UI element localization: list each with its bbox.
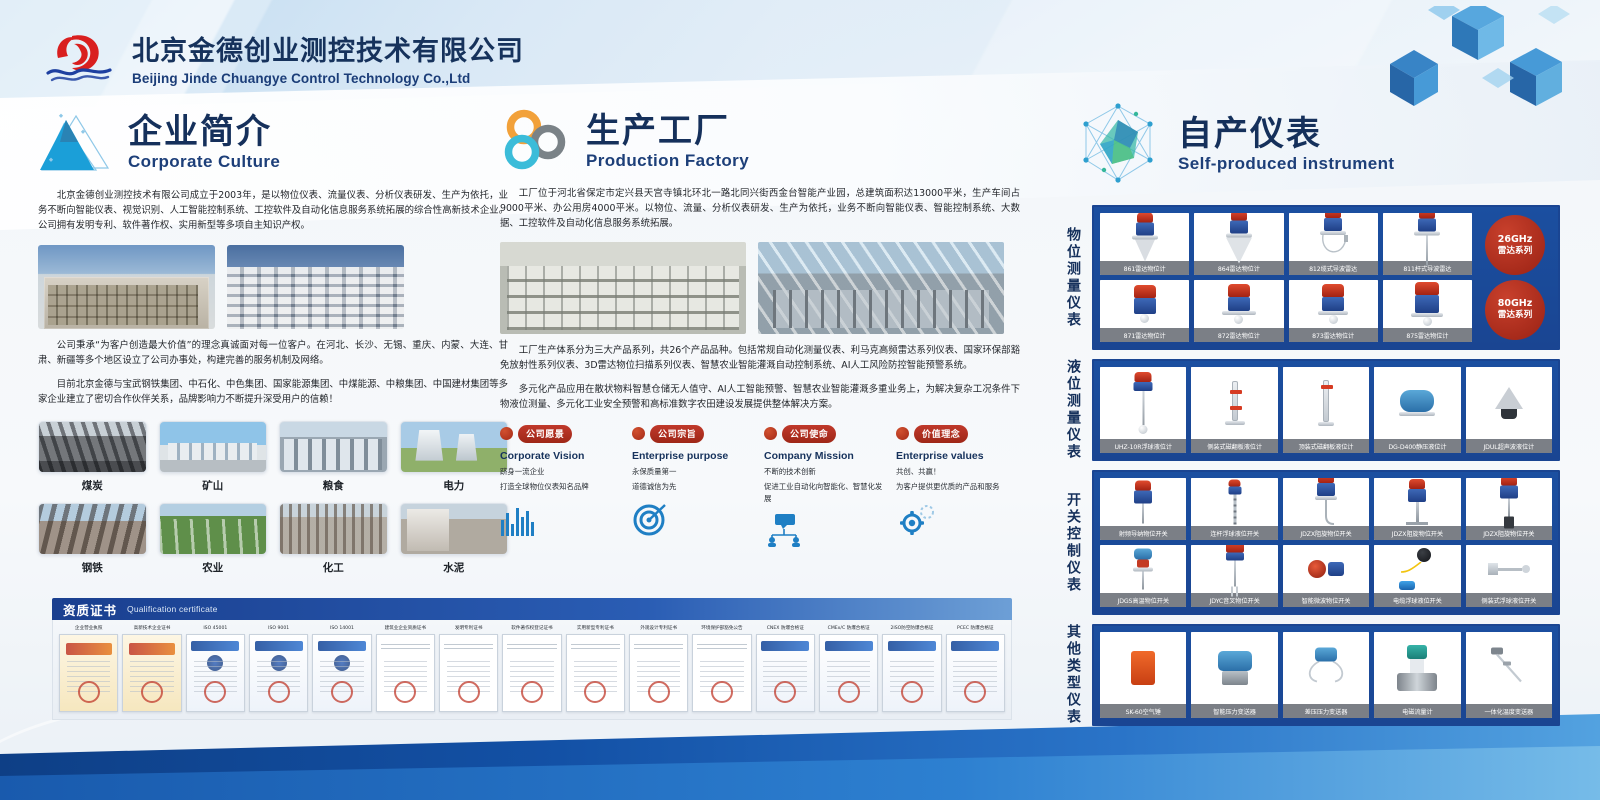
- certificate-caption: ISO 14001: [312, 624, 371, 634]
- product-caption: UHZ-10R浮球液位计: [1100, 439, 1186, 453]
- certificate-thumbnail: [756, 634, 815, 712]
- industry-label: 矿山: [159, 478, 268, 493]
- product-card[interactable]: JDYC音叉物位开关: [1191, 545, 1277, 607]
- certificates-title-cn: 资质证书: [63, 600, 117, 619]
- certificate-thumbnail: [122, 634, 181, 712]
- product-card[interactable]: 侧装式磁翻板液位计: [1191, 367, 1277, 453]
- culture-title-en: Corporate Culture: [128, 152, 280, 172]
- value-line-2: 道德诚信为先: [632, 481, 756, 492]
- bar-chart-icon: [500, 502, 624, 536]
- value-pill-purpose: 公司宗旨: [650, 425, 704, 443]
- rod-float-level-switch-icon: [1191, 478, 1277, 526]
- certificate-caption: ISO 9001: [249, 624, 308, 634]
- product-caption: JDGS高温物位开关: [1100, 593, 1186, 607]
- gear-icon: [896, 502, 1020, 536]
- industry-label: 化工: [279, 560, 388, 575]
- factory-paragraph-2: 工厂生产体系分为三大产品系列，共26个产品品种。包括常规自动化测量仪表、利马克高…: [500, 343, 1020, 373]
- industry-cell-coal[interactable]: 煤炭: [38, 421, 147, 493]
- warehouse-photo: [500, 242, 746, 334]
- product-caption: 861雷达物位计: [1100, 261, 1189, 275]
- bullet-dot-icon: [500, 427, 513, 440]
- certificate-thumbnail: [566, 634, 625, 712]
- value-pill-vision: 公司愿景: [518, 425, 572, 443]
- product-caption: JDUL超声波液位计: [1466, 439, 1552, 453]
- grain-silo-photo: [279, 421, 388, 473]
- product-card[interactable]: 873雷达物位计: [1289, 280, 1378, 342]
- electromagnetic-flowmeter-icon: [1374, 632, 1460, 704]
- bullet-dot-icon: [632, 427, 645, 440]
- certificate-item[interactable]: CMEx/C 防爆合格证: [819, 624, 878, 712]
- self-produced-instrument-section: 自产仪表 Self-produced instrument 物位测量仪表 861…: [1060, 100, 1560, 735]
- certificate-thumbnail: [439, 634, 498, 712]
- product-caption: 电缆浮球液位开关: [1374, 593, 1460, 607]
- value-line-2: 打造全球物位仪表知名品牌: [500, 481, 624, 492]
- product-caption: 873雷达物位计: [1289, 328, 1378, 342]
- radar-level-meter-871-icon: [1100, 280, 1189, 328]
- industry-cell-power[interactable]: 电力: [400, 421, 509, 493]
- series-badges: 26GHz 雷达系列 80GHz 雷达系列: [1478, 213, 1552, 342]
- factory-paragraph-3: 多元化产品应用在散状物料智慧仓储无人值守、AI人工智能预警、智慧农业智能灌溉多重…: [500, 382, 1020, 412]
- product-card[interactable]: JDZX阻旋物位开关: [1466, 478, 1552, 540]
- product-card[interactable]: 差压压力变送器: [1283, 632, 1369, 718]
- certificate-item[interactable]: ISO 14001: [312, 624, 371, 712]
- product-caption: 射频导纳物位开关: [1100, 526, 1186, 540]
- certificate-item[interactable]: 外观设计专利证书: [629, 624, 688, 712]
- product-caption: 电磁流量计: [1374, 704, 1460, 718]
- culture-paragraph-2: 公司秉承“为客户创造最大价值”的理念真诚面对每一位客户。在河北、长沙、无锡、重庆…: [38, 338, 508, 368]
- target-icon: [632, 502, 756, 536]
- company-name-cn: 北京金德创业测控技术有限公司: [132, 29, 524, 68]
- production-factory-section: 生产工厂 Production Factory 工厂位于河北省保定市定兴县天宫寺…: [500, 108, 1020, 547]
- value-en-vision: Corporate Vision: [500, 450, 624, 462]
- workshop-photo: [758, 242, 1004, 334]
- certificate-caption: 外观设计专利证书: [629, 624, 688, 634]
- category-panel: SK-60空气锤 智能压力变送器: [1092, 624, 1560, 726]
- industry-label: 钢铁: [38, 560, 147, 575]
- certificate-caption: 建筑业企业资质证书: [376, 624, 435, 634]
- value-en-values: Enterprise values: [896, 450, 1020, 462]
- rod-guided-radar-811-icon: [1383, 213, 1472, 261]
- product-card[interactable]: 智能微波物位开关: [1283, 545, 1369, 607]
- product-card[interactable]: 872雷达物位计: [1194, 280, 1283, 342]
- top-magnetic-flap-level-meter-icon: [1283, 367, 1369, 439]
- badge-line-2: 雷达系列: [1498, 246, 1532, 257]
- product-caption: 差压压力变送器: [1283, 704, 1369, 718]
- side-float-level-switch-icon: [1466, 545, 1552, 593]
- product-card[interactable]: DG-D400静压液位计: [1374, 367, 1460, 453]
- rotary-paddle-switch-jdzx-b-icon: [1374, 478, 1460, 526]
- product-card[interactable]: 顶装式磁翻板液位计: [1283, 367, 1369, 453]
- certificate-thumbnail: [946, 634, 1005, 712]
- factory-paragraph-1: 工厂位于河北省保定市定兴县天宫寺镇北环北一路北同兴街西金台智能产业园，总建筑面积…: [500, 186, 1020, 232]
- culture-title-cn: 企业简介: [128, 115, 280, 151]
- chemical-plant-photo: [279, 503, 388, 555]
- culture-paragraph-1: 北京金德创业测控技术有限公司成立于2003年，是以物位仪表、流量仪表、分析仪表研…: [38, 188, 508, 234]
- industry-cell-chemical[interactable]: 化工: [279, 503, 388, 575]
- product-caption: DG-D400静压液位计: [1374, 439, 1460, 453]
- product-card[interactable]: 智能压力变送器: [1191, 632, 1277, 718]
- category-switch-control: 开关控制仪表 射频导纳物位开关 连杆浮球液: [1060, 470, 1560, 615]
- certificates-strip: 企业营业执照 高新技术企业证书 ISO 45001 ISO 9001 ISO 1…: [52, 620, 1012, 720]
- product-card[interactable]: 连杆浮球液位开关: [1191, 478, 1277, 540]
- integrated-temperature-transmitter-icon: [1466, 632, 1552, 704]
- product-card[interactable]: JDZX阻旋物位开关: [1283, 478, 1369, 540]
- value-en-purpose: Enterprise purpose: [632, 450, 756, 462]
- rf-admittance-level-switch-icon: [1100, 478, 1186, 526]
- certificate-item[interactable]: 发明专利证书: [439, 624, 498, 712]
- value-block-purpose: 公司宗旨 Enterprise purpose 永保质量第一 道德诚信为先: [632, 425, 756, 547]
- people-network-icon: [764, 513, 888, 547]
- product-card[interactable]: 一体化温度变送器: [1466, 632, 1552, 718]
- factory-heading: 生产工厂 Production Factory: [500, 108, 1020, 177]
- product-caption: 872雷达物位计: [1194, 328, 1283, 342]
- coal-plant-photo: [38, 421, 147, 473]
- certificate-item[interactable]: 企业营业执照: [59, 624, 118, 712]
- certificate-caption: 软件著作权登记证书: [502, 624, 561, 634]
- instrument-title-en: Self-produced instrument: [1178, 154, 1394, 174]
- certificate-item[interactable]: ISO 9001: [249, 624, 308, 712]
- category-panel: UHZ-10R浮球液位计 侧装式磁翻板液位计 顶装式磁翻板液位计: [1092, 359, 1560, 461]
- industry-label: 农业: [159, 560, 268, 575]
- cement-plant-photo: [400, 503, 509, 555]
- product-card[interactable]: JDGS高温物位开关: [1100, 545, 1186, 607]
- certificate-item[interactable]: 2ISO防空防爆合格证: [882, 624, 941, 712]
- certificate-item[interactable]: 环境保护部豁免公告: [692, 624, 751, 712]
- certificate-thumbnail: [629, 634, 688, 712]
- factory-title-en: Production Factory: [586, 151, 749, 171]
- product-caption: 侧装式磁翻板液位计: [1191, 439, 1277, 453]
- power-plant-photo: [400, 421, 509, 473]
- company-brand: 北京金德创业测控技术有限公司 Beijing Jinde Chuangye Co…: [44, 28, 524, 86]
- product-card[interactable]: JDUL超声波液位计: [1466, 367, 1552, 453]
- value-block-mission: 公司使命 Company Mission 不断的技术创新 促进工业自动化向智能化…: [764, 425, 888, 547]
- product-card[interactable]: SK-60空气锤: [1100, 632, 1186, 718]
- industry-label: 水泥: [400, 560, 509, 575]
- poster-canvas: 北京金德创业测控技术有限公司 Beijing Jinde Chuangye Co…: [0, 0, 1600, 800]
- product-caption: 智能微波物位开关: [1283, 593, 1369, 607]
- certificate-thumbnail: [376, 634, 435, 712]
- product-caption: 871雷达物位计: [1100, 328, 1189, 342]
- certificate-caption: 高新技术企业证书: [122, 624, 181, 634]
- company-name-en: Beijing Jinde Chuangye Control Technolog…: [132, 71, 524, 86]
- certificate-caption: 发明专利证书: [439, 624, 498, 634]
- qualification-certificates-section: 资质证书 Qualification certificate 企业营业执照 高新…: [52, 598, 1012, 720]
- ultrasonic-level-meter-jdul-icon: [1466, 367, 1552, 439]
- category-other-instruments: 其他类型仪表 SK-60空气锤 智能压力变: [1060, 624, 1560, 726]
- certificate-caption: 实用新型专利证书: [566, 624, 625, 634]
- microwave-level-switch-icon: [1283, 545, 1369, 593]
- certificates-title-en: Qualification certificate: [127, 604, 218, 614]
- value-line-2: 促进工业自动化向智能化、智慧化发展: [764, 481, 888, 504]
- product-card[interactable]: 812缆式导波雷达: [1289, 213, 1378, 275]
- industry-cell-steel[interactable]: 钢铁: [38, 503, 147, 575]
- jinde-logo-icon: [44, 28, 118, 86]
- certificate-thumbnail: [882, 634, 941, 712]
- certificate-caption: 2ISO防空防爆合格证: [882, 624, 941, 634]
- differential-pressure-transmitter-icon: [1283, 632, 1369, 704]
- float-level-meter-uhz10r-icon: [1100, 367, 1186, 439]
- certificate-caption: CNEX 防爆合格证: [756, 624, 815, 634]
- three-circles-icon: [500, 108, 572, 177]
- product-caption: 侧装式浮球液位开关: [1466, 593, 1552, 607]
- radar-level-meter-872-icon: [1194, 280, 1283, 328]
- product-card[interactable]: 电缆浮球液位开关: [1374, 545, 1460, 607]
- product-card[interactable]: 射频导纳物位开关: [1100, 478, 1186, 540]
- mine-photo: [159, 421, 268, 473]
- product-card[interactable]: 侧装式浮球液位开关: [1466, 545, 1552, 607]
- radar-level-meter-861-icon: [1100, 213, 1189, 261]
- badge-26ghz: 26GHz 雷达系列: [1485, 215, 1545, 275]
- category-panel: 861雷达物位计 864雷达物位计: [1092, 205, 1560, 350]
- certificate-item[interactable]: 实用新型专利证书: [566, 624, 625, 712]
- rotary-paddle-switch-jdzx-c-icon: [1466, 478, 1552, 526]
- certificate-thumbnail: [249, 634, 308, 712]
- high-temp-level-switch-jdgs-icon: [1100, 545, 1186, 593]
- value-line-1: 跻身一流企业: [500, 466, 624, 477]
- badge-line-1: 26GHz: [1498, 234, 1533, 246]
- industry-cell-grain[interactable]: 粮食: [279, 421, 388, 493]
- instrument-title-cn: 自产仪表: [1178, 117, 1394, 153]
- product-caption: 顶装式磁翻板液位计: [1283, 439, 1369, 453]
- product-caption: 连杆浮球液位开关: [1191, 526, 1277, 540]
- industry-label: 电力: [400, 478, 509, 493]
- certificate-item[interactable]: 建筑业企业资质证书: [376, 624, 435, 712]
- radar-level-meter-875-icon: [1383, 280, 1472, 328]
- product-caption: 875雷达物位计: [1383, 328, 1472, 342]
- bullet-dot-icon: [896, 427, 909, 440]
- factory-photo-row: [500, 242, 1020, 334]
- category-label: 其他类型仪表: [1060, 624, 1086, 726]
- product-card[interactable]: UHZ-10R浮球液位计: [1100, 367, 1186, 453]
- certificate-item[interactable]: PCEC 防爆合格证: [946, 624, 1005, 712]
- office-building-photo-1: [38, 245, 215, 329]
- value-line-2: 为客户提供更优质的产品和服务: [896, 481, 1020, 492]
- product-card[interactable]: 811杆式导波雷达: [1383, 213, 1472, 275]
- value-line-1: 共创、共赢！: [896, 466, 1020, 477]
- value-block-values: 价值理念 Enterprise values 共创、共赢！ 为客户提供更优质的产…: [896, 425, 1020, 547]
- factory-title-cn: 生产工厂: [586, 114, 749, 150]
- static-pressure-level-meter-dgd400-icon: [1374, 367, 1460, 439]
- badge-line-2: 雷达系列: [1498, 310, 1532, 321]
- industry-label: 粮食: [279, 478, 388, 493]
- industry-grid: 煤炭 矿山 粮食 电力 钢铁 农业: [38, 421, 508, 575]
- industry-cell-mine[interactable]: 矿山: [159, 421, 268, 493]
- culture-paragraph-3: 目前北京金德与宝武钢铁集团、中石化、中色集团、国家能源集团、中煤能源、中粮集团、…: [38, 377, 508, 407]
- certificate-thumbnail: [819, 634, 878, 712]
- product-grid: SK-60空气锤 智能压力变送器: [1100, 632, 1552, 718]
- product-card[interactable]: 864雷达物位计: [1194, 213, 1283, 275]
- badge-line-1: 80GHz: [1498, 298, 1533, 310]
- cable-float-level-switch-icon: [1374, 545, 1460, 593]
- industry-cell-cement[interactable]: 水泥: [400, 503, 509, 575]
- agriculture-photo: [159, 503, 268, 555]
- category-panel: 射频导纳物位开关 连杆浮球液位开关: [1092, 470, 1560, 615]
- value-pill-values: 价值理念: [914, 425, 968, 443]
- radar-level-meter-864-icon: [1194, 213, 1283, 261]
- product-card[interactable]: 电磁流量计: [1374, 632, 1460, 718]
- instrument-heading: 自产仪表 Self-produced instrument: [1060, 100, 1560, 191]
- certificate-caption: 环境保护部豁免公告: [692, 624, 751, 634]
- value-pill-mission: 公司使命: [782, 425, 836, 443]
- bullet-dot-icon: [764, 427, 777, 440]
- radar-level-meter-873-icon: [1289, 280, 1378, 328]
- steel-mill-photo: [38, 503, 147, 555]
- value-en-mission: Company Mission: [764, 450, 888, 462]
- office-building-photo-2: [227, 245, 404, 329]
- category-label: 开关控制仪表: [1060, 470, 1086, 615]
- culture-heading: 企业简介 Corporate Culture: [38, 108, 508, 179]
- certificate-item[interactable]: 高新技术企业证书: [122, 624, 181, 712]
- category-label: 物位测量仪表: [1060, 205, 1086, 350]
- certificate-caption: PCEC 防爆合格证: [946, 624, 1005, 634]
- value-line-1: 永保质量第一: [632, 466, 756, 477]
- side-magnetic-flap-level-meter-icon: [1191, 367, 1277, 439]
- corporate-values-row: 公司愿景 Corporate Vision 跻身一流企业 打造全球物位仪表知名品…: [500, 425, 1020, 547]
- product-card[interactable]: 861雷达物位计: [1100, 213, 1189, 275]
- certificate-caption: CMEx/C 防爆合格证: [819, 624, 878, 634]
- cable-guided-radar-812-icon: [1289, 213, 1378, 261]
- certificate-item[interactable]: CNEX 防爆合格证: [756, 624, 815, 712]
- product-card[interactable]: 871雷达物位计: [1100, 280, 1189, 342]
- value-line-1: 不断的技术创新: [764, 466, 888, 477]
- rotary-paddle-switch-jdzx-a-icon: [1283, 478, 1369, 526]
- mountain-icon: [38, 108, 114, 179]
- product-grid: UHZ-10R浮球液位计 侧装式磁翻板液位计 顶装式磁翻板液位计: [1100, 367, 1552, 453]
- certificate-thumbnail: [502, 634, 561, 712]
- tuning-fork-switch-jdyc-icon: [1191, 545, 1277, 593]
- category-level-measurement: 物位测量仪表 861雷达物位计 864雷达: [1060, 205, 1560, 350]
- certificates-header: 资质证书 Qualification certificate: [52, 598, 1012, 620]
- product-card[interactable]: JDZX阻旋物位开关: [1374, 478, 1460, 540]
- certificate-item[interactable]: ISO 45001: [186, 624, 245, 712]
- polygon-network-icon: [1072, 100, 1164, 191]
- product-caption: JDZX阻旋物位开关: [1374, 526, 1460, 540]
- certificate-thumbnail: [312, 634, 371, 712]
- industry-label: 煤炭: [38, 478, 147, 493]
- certificate-thumbnail: [186, 634, 245, 712]
- culture-photo-row: [38, 245, 508, 329]
- product-caption: SK-60空气锤: [1100, 704, 1186, 718]
- product-caption: 智能压力变送器: [1191, 704, 1277, 718]
- value-block-vision: 公司愿景 Corporate Vision 跻身一流企业 打造全球物位仪表知名品…: [500, 425, 624, 547]
- certificate-caption: 企业营业执照: [59, 624, 118, 634]
- product-grid: 861雷达物位计 864雷达物位计: [1100, 213, 1472, 342]
- industry-cell-agriculture[interactable]: 农业: [159, 503, 268, 575]
- product-grid: 射频导纳物位开关 连杆浮球液位开关: [1100, 478, 1552, 607]
- category-label: 液位测量仪表: [1060, 359, 1086, 461]
- product-caption: 一体化温度变送器: [1466, 704, 1552, 718]
- certificate-caption: ISO 45001: [186, 624, 245, 634]
- product-card[interactable]: 875雷达物位计: [1383, 280, 1472, 342]
- certificate-thumbnail: [692, 634, 751, 712]
- category-liquid-level: 液位测量仪表 UHZ-10R浮球液位计 侧装式磁翻板液位计: [1060, 359, 1560, 461]
- corporate-culture-section: 企业简介 Corporate Culture 北京金德创业测控技术有限公司成立于…: [38, 108, 508, 575]
- air-hammer-sk60-icon: [1100, 632, 1186, 704]
- badge-80ghz: 80GHz 雷达系列: [1485, 280, 1545, 340]
- smart-pressure-transmitter-icon: [1191, 632, 1277, 704]
- certificate-thumbnail: [59, 634, 118, 712]
- certificate-item[interactable]: 软件著作权登记证书: [502, 624, 561, 712]
